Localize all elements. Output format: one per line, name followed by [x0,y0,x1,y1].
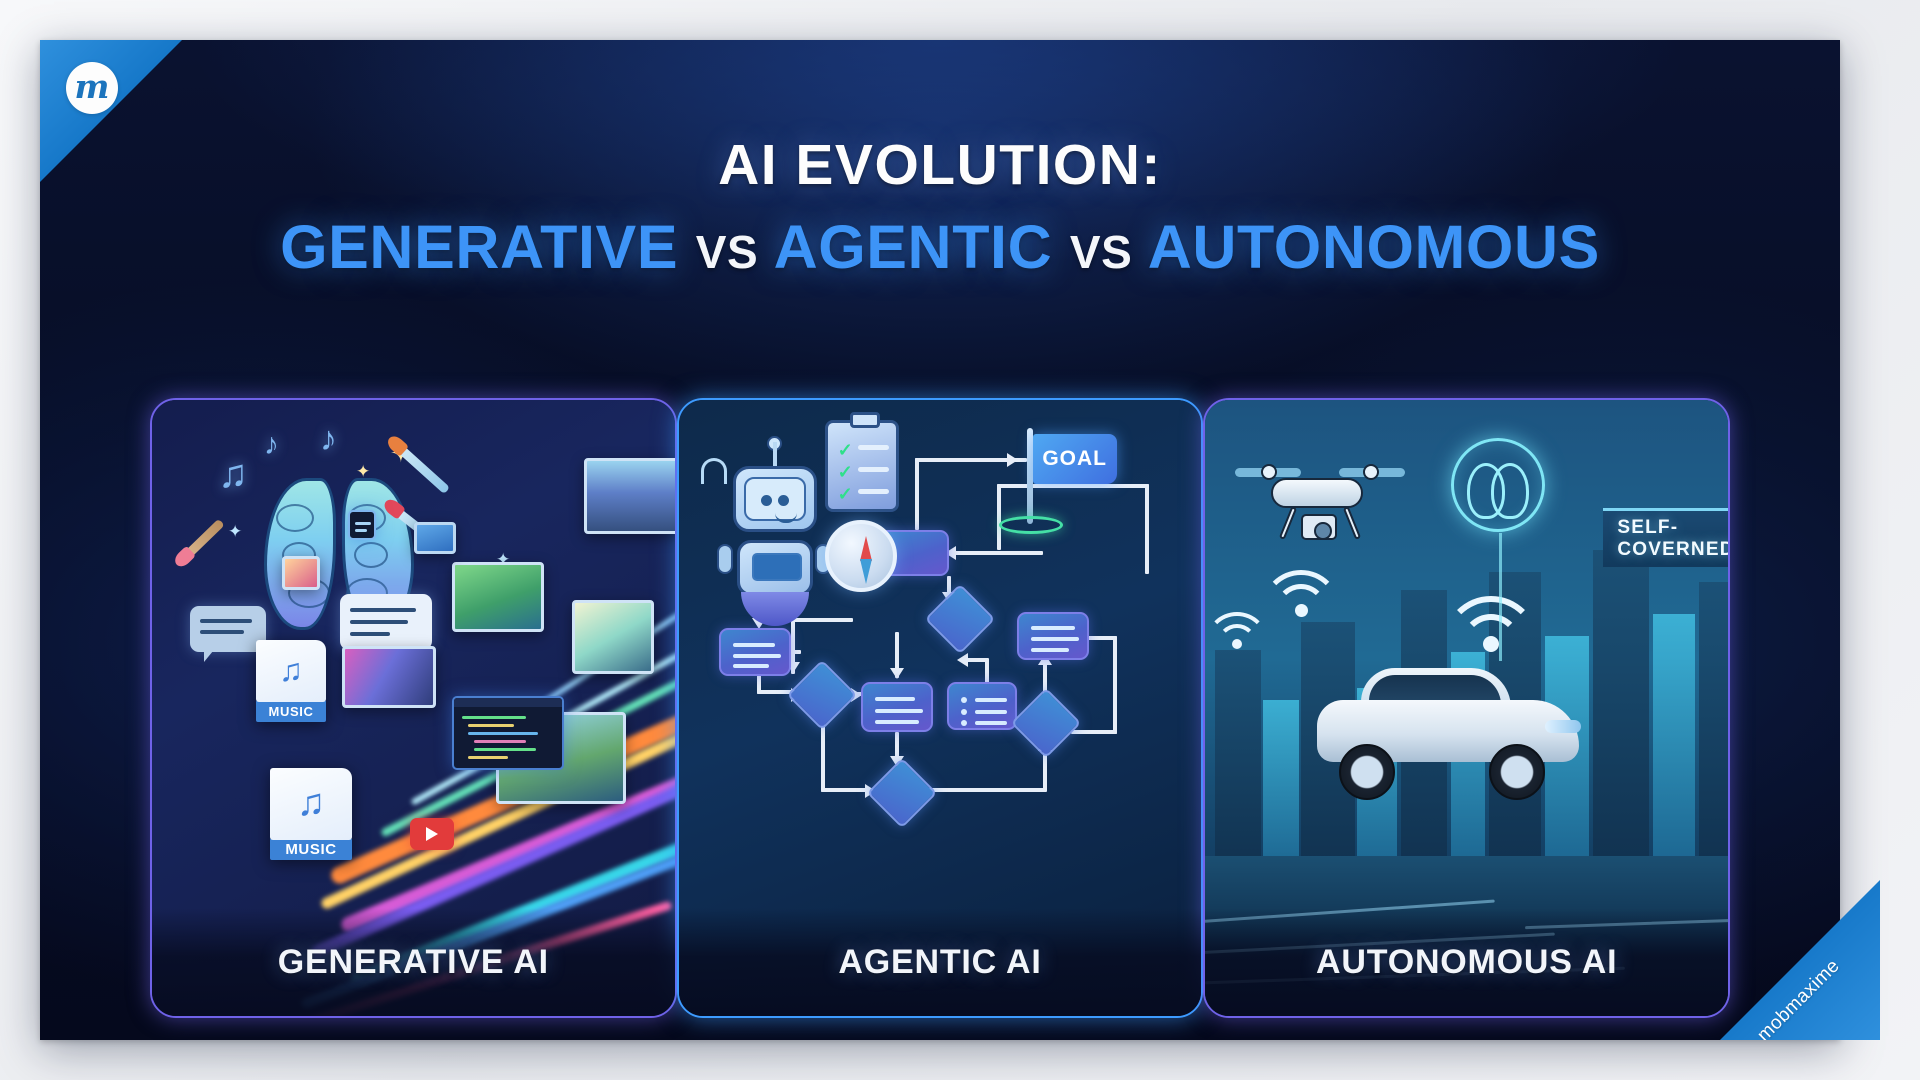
card-caption-agentic: AGENTIC AI [679,908,1202,1016]
sparkle-icon: ✦ [228,522,242,542]
mobmaxime-m-logo-icon: m [66,62,118,114]
subtitle-separator-1: VS [696,226,759,278]
signboard: SELF-COVERNED [1603,508,1730,567]
comparison-cards: ♫ ♪ ♪ ✦ ✦ ✦ ✦ [150,398,1730,1018]
card-generative-ai[interactable]: ♫ ♪ ♪ ✦ ✦ ✦ ✦ [150,398,677,1018]
city-skyline [1699,582,1730,880]
flow-arrow [890,668,904,679]
wifi-signal-icon [1205,612,1273,656]
clipboard-checklist-icon: ✓ ✓ ✓ [825,420,899,512]
city-skyline [1653,614,1695,880]
subtitle-word-agentic: AGENTIC [774,213,1053,281]
sparkle-icon: ✦ [356,462,370,482]
flowchart-node [719,628,791,676]
flowchart-node [1017,612,1089,660]
image-thumbnail [282,556,320,590]
music-file-icon: ♫ MUSIC [270,768,352,860]
goal-flag-label: GOAL [1033,434,1117,484]
flowchart-diamond [866,758,937,829]
infographic-board: AI EVOLUTION: GENERATIVE VS AGENTIC VS A… [40,40,1840,1040]
flow-arrow [997,484,1149,488]
flow-arrow [915,458,919,530]
code-window [348,510,376,540]
image-thumbnail [452,562,544,632]
compass-icon [825,520,897,592]
card-caption-autonomous: AUTONOMOUS AI [1205,908,1728,1016]
page-subtitle: GENERATIVE VS AGENTIC VS AUTONOMOUS [40,212,1840,282]
robot-icon [715,440,833,618]
card-agentic-ai[interactable]: ✓ ✓ ✓ GOAL [677,398,1204,1018]
city-skyline [1593,550,1649,880]
wifi-signal-icon [1261,570,1345,626]
folder-icon [414,522,456,554]
flow-arrow [1071,730,1117,734]
image-thumbnail [572,600,654,674]
logo-letter: m [75,70,110,103]
card-autonomous-ai[interactable]: SELF-COVERNED [1203,398,1730,1018]
robot-claw-icon [701,458,727,484]
subtitle-word-autonomous: AUTONOMOUS [1148,213,1600,281]
subtitle-separator-2: VS [1070,226,1133,278]
music-note-icon: ♪ [320,420,337,459]
subtitle-word-generative: GENERATIVE [280,213,678,281]
music-note-icon: ♪ [264,428,279,462]
flow-arrow [821,720,825,792]
flow-arrow [997,484,1001,550]
flowchart-diamond [924,584,995,655]
music-file-label: MUSIC [270,838,352,860]
drone-icon [1235,456,1405,566]
city-skyline [1263,700,1299,880]
flow-arrow [957,653,968,667]
music-file-label: MUSIC [256,700,326,722]
flow-arrow [1145,484,1149,574]
signboard-label: SELF-COVERNED [1603,508,1730,567]
flowchart-diamond [1010,688,1081,759]
wifi-signal-icon [1443,596,1543,662]
flow-arrow [927,788,1045,792]
title-block: AI EVOLUTION: GENERATIVE VS AGENTIC VS A… [40,132,1840,282]
chat-bubble-icon [190,606,266,652]
flow-arrow [949,551,1043,555]
page-title: AI EVOLUTION: [40,132,1840,198]
chat-bubble-icon [340,594,432,650]
city-skyline [1215,650,1261,880]
image-thumbnail [584,458,677,534]
self-driving-car [1317,668,1587,804]
neon-brain-icon [1451,438,1545,532]
flow-arrow [965,658,989,662]
music-file-icon: ♫ MUSIC [256,640,326,722]
play-button-icon [410,818,454,850]
card-caption-generative: GENERATIVE AI [152,908,675,1016]
flowchart-node [947,682,1017,730]
image-thumbnail [342,646,436,708]
code-window [452,696,564,770]
flow-arrow [1113,636,1117,734]
flowchart-node [861,682,933,732]
infographic-canvas: AI EVOLUTION: GENERATIVE VS AGENTIC VS A… [0,0,1920,1080]
music-note-icon: ♫ [218,452,248,497]
flow-arrow [1007,453,1018,467]
flow-arrow [791,618,853,622]
